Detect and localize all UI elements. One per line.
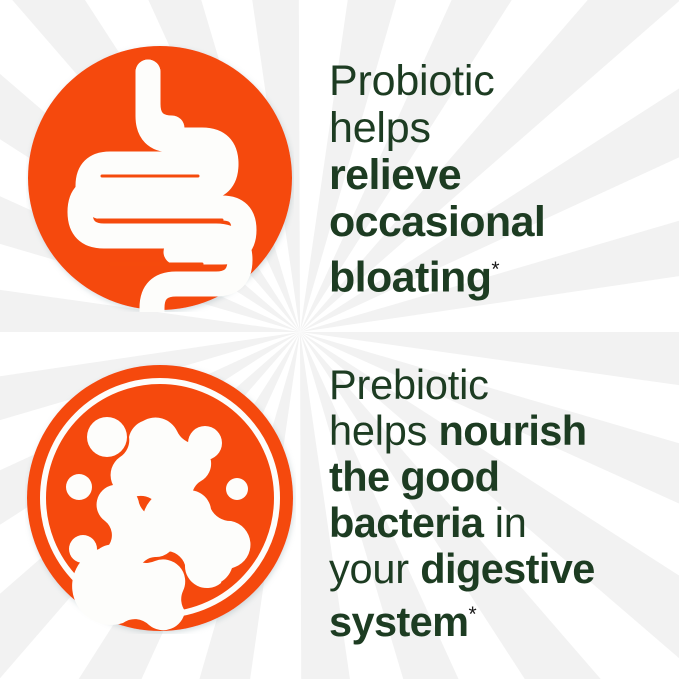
text-line: Prebiotic bbox=[329, 362, 677, 408]
body-text: Prebiotic bbox=[329, 361, 489, 408]
text-line: the good bbox=[329, 454, 677, 500]
footnote-asterisk: * bbox=[491, 258, 499, 281]
text-line: helps nourish bbox=[329, 408, 677, 454]
body-text: helps bbox=[329, 407, 439, 454]
body-text: Probiotic bbox=[329, 57, 495, 105]
benefit-text-probiotic: Probiotichelpsrelieveoccasionalbloating* bbox=[329, 58, 674, 301]
text-line: Probiotic bbox=[329, 58, 674, 105]
emphasis-text: relieve bbox=[329, 151, 461, 199]
product-benefits-graphic: Probiotichelpsrelieveoccasionalbloating*… bbox=[0, 0, 679, 679]
text-line: helps bbox=[329, 105, 674, 152]
body-text: your bbox=[329, 545, 420, 592]
text-line: bloating* bbox=[329, 246, 674, 301]
text-line: relieve bbox=[329, 152, 674, 199]
text-line: occasional bbox=[329, 199, 674, 246]
emphasis-text: nourish bbox=[439, 407, 587, 454]
text-line: your digestive bbox=[329, 546, 677, 592]
body-text: in bbox=[483, 499, 526, 546]
intestine-icon bbox=[26, 44, 294, 312]
emphasis-text: bloating bbox=[329, 253, 491, 301]
emphasis-text: digestive bbox=[420, 545, 595, 592]
footnote-asterisk: * bbox=[468, 603, 476, 626]
text-line: system* bbox=[329, 592, 677, 645]
emphasis-text: system bbox=[329, 598, 468, 645]
bacteria-icon bbox=[25, 363, 296, 634]
text-line: bacteria in bbox=[329, 500, 677, 546]
body-text: helps bbox=[329, 104, 431, 152]
emphasis-text: the good bbox=[329, 453, 499, 500]
benefit-text-prebiotic: Prebiotichelps nourishthe goodbacteria i… bbox=[329, 362, 677, 645]
emphasis-text: bacteria bbox=[329, 499, 483, 546]
emphasis-text: occasional bbox=[329, 198, 545, 246]
